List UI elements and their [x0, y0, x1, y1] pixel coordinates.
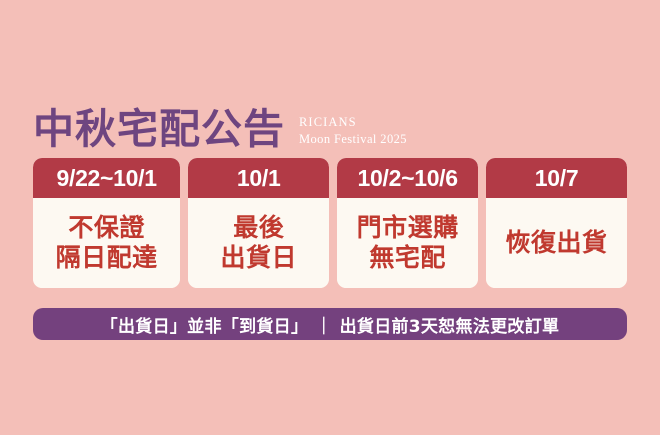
card-body-line: 門市選購 [357, 213, 459, 244]
poster-header: 中秋宅配公告 RICIANS Moon Festival 2025 [33, 92, 627, 150]
card-body-line: 最後 [220, 213, 297, 244]
schedule-card: 10/2~10/6 門市選購 無宅配 [337, 158, 478, 288]
card-body-line: 隔日配達 [56, 243, 158, 274]
brand-name: RICIANS [299, 114, 407, 131]
card-date-header: 10/2~10/6 [337, 158, 478, 198]
card-body: 不保證 隔日配達 [33, 198, 180, 288]
card-body: 最後 出貨日 [188, 198, 329, 288]
festival-label: Moon Festival 2025 [299, 131, 407, 148]
schedule-card-list: 9/22~10/1 不保證 隔日配達 10/1 最後 出貨日 10/2~10/6 [33, 158, 627, 288]
card-date-header: 10/1 [188, 158, 329, 198]
card-date-header: 10/7 [486, 158, 627, 198]
shipping-disclaimer-banner: 「出貨日」並非「到貨日」 ｜ 出貨日前3天恕無法更改訂單 [33, 308, 627, 340]
card-body-line: 出貨日 [220, 243, 297, 274]
page-title: 中秋宅配公告 [33, 109, 285, 150]
schedule-card: 10/1 最後 出貨日 [188, 158, 329, 288]
disclaimer-separator: ｜ [308, 312, 339, 337]
card-date-header: 9/22~10/1 [33, 158, 180, 198]
brand-subtitle: RICIANS Moon Festival 2025 [299, 114, 407, 147]
disclaimer-left-text: 「出貨日」並非「到貨日」 [101, 312, 309, 337]
moon-festival-shipping-notice-poster: 中秋宅配公告 RICIANS Moon Festival 2025 9/22~1… [0, 0, 660, 435]
card-body-line: 無宅配 [357, 243, 459, 274]
card-body-line: 恢復出貨 [506, 228, 608, 259]
card-body-line: 不保證 [56, 213, 158, 244]
schedule-card: 9/22~10/1 不保證 隔日配達 [33, 158, 180, 288]
schedule-card: 10/7 恢復出貨 [486, 158, 627, 288]
card-body: 門市選購 無宅配 [337, 198, 478, 288]
card-body: 恢復出貨 [486, 198, 627, 288]
disclaimer-right-text: 出貨日前3天恕無法更改訂單 [340, 312, 560, 337]
